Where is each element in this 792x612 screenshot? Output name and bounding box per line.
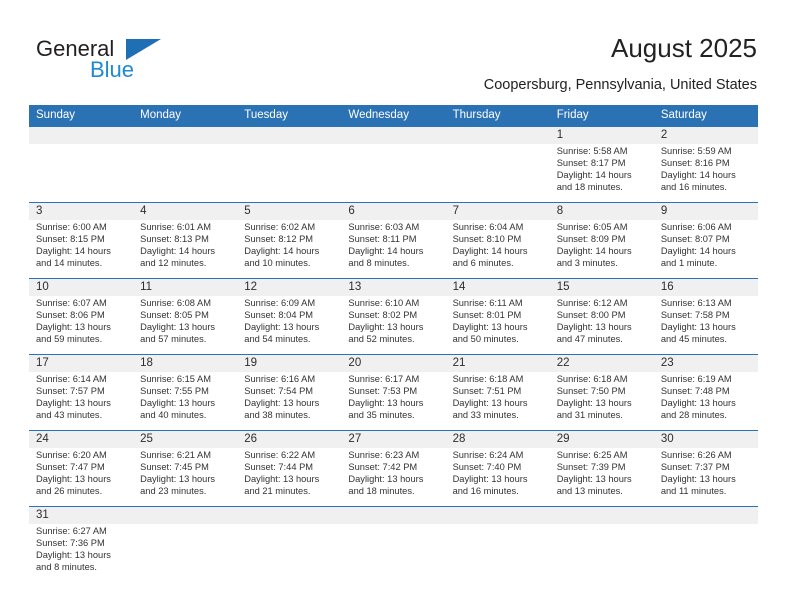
day-cell[interactable]: 31Sunrise: 6:27 AM Sunset: 7:36 PM Dayli… — [29, 507, 133, 583]
weekday-header-sunday: Sunday — [29, 105, 133, 126]
day-detail: Sunrise: 6:15 AM Sunset: 7:55 PM Dayligh… — [140, 372, 237, 421]
day-cell[interactable]: 16Sunrise: 6:13 AM Sunset: 7:58 PM Dayli… — [654, 279, 758, 354]
day-cell[interactable]: 10Sunrise: 6:07 AM Sunset: 8:06 PM Dayli… — [29, 279, 133, 354]
day-cell[interactable] — [133, 507, 237, 583]
day-detail: Sunrise: 6:23 AM Sunset: 7:42 PM Dayligh… — [348, 448, 445, 497]
day-cell[interactable]: 23Sunrise: 6:19 AM Sunset: 7:48 PM Dayli… — [654, 355, 758, 430]
day-detail: Sunrise: 6:26 AM Sunset: 7:37 PM Dayligh… — [661, 448, 758, 497]
day-detail: Sunrise: 6:13 AM Sunset: 7:58 PM Dayligh… — [661, 296, 758, 345]
day-number: 29 — [557, 431, 654, 448]
day-detail: Sunrise: 5:59 AM Sunset: 8:16 PM Dayligh… — [661, 144, 758, 193]
day-number: 10 — [36, 279, 133, 296]
day-cell[interactable]: 27Sunrise: 6:23 AM Sunset: 7:42 PM Dayli… — [341, 431, 445, 506]
day-cell[interactable]: 17Sunrise: 6:14 AM Sunset: 7:57 PM Dayli… — [29, 355, 133, 430]
day-number: 16 — [661, 279, 758, 296]
calendar-page: General Blue August 2025 Coopersburg, Pe… — [0, 0, 792, 612]
day-number: 1 — [557, 127, 654, 144]
day-cell[interactable]: 2Sunrise: 5:59 AM Sunset: 8:16 PM Daylig… — [654, 127, 758, 202]
calendar-week-row: 31Sunrise: 6:27 AM Sunset: 7:36 PM Dayli… — [29, 506, 758, 583]
day-number: 21 — [453, 355, 550, 372]
day-number: 17 — [36, 355, 133, 372]
day-cell[interactable]: 18Sunrise: 6:15 AM Sunset: 7:55 PM Dayli… — [133, 355, 237, 430]
day-cell[interactable]: 4Sunrise: 6:01 AM Sunset: 8:13 PM Daylig… — [133, 203, 237, 278]
day-detail: Sunrise: 6:19 AM Sunset: 7:48 PM Dayligh… — [661, 372, 758, 421]
day-cell[interactable] — [550, 507, 654, 583]
day-cell[interactable]: 9Sunrise: 6:06 AM Sunset: 8:07 PM Daylig… — [654, 203, 758, 278]
day-cell[interactable] — [237, 507, 341, 583]
day-detail: Sunrise: 6:27 AM Sunset: 7:36 PM Dayligh… — [36, 524, 133, 573]
day-detail: Sunrise: 6:14 AM Sunset: 7:57 PM Dayligh… — [36, 372, 133, 421]
logo-text-blue: Blue — [90, 57, 134, 83]
day-cell[interactable] — [133, 127, 237, 202]
weekday-header-saturday: Saturday — [654, 105, 758, 126]
day-detail: Sunrise: 6:04 AM Sunset: 8:10 PM Dayligh… — [453, 220, 550, 269]
day-detail: Sunrise: 6:05 AM Sunset: 8:09 PM Dayligh… — [557, 220, 654, 269]
day-detail: Sunrise: 6:16 AM Sunset: 7:54 PM Dayligh… — [244, 372, 341, 421]
day-cell[interactable]: 30Sunrise: 6:26 AM Sunset: 7:37 PM Dayli… — [654, 431, 758, 506]
day-detail: Sunrise: 6:11 AM Sunset: 8:01 PM Dayligh… — [453, 296, 550, 345]
day-number: 12 — [244, 279, 341, 296]
weekday-header-thursday: Thursday — [446, 105, 550, 126]
day-detail: Sunrise: 6:22 AM Sunset: 7:44 PM Dayligh… — [244, 448, 341, 497]
day-number: 25 — [140, 431, 237, 448]
day-detail: Sunrise: 6:25 AM Sunset: 7:39 PM Dayligh… — [557, 448, 654, 497]
day-detail: Sunrise: 6:00 AM Sunset: 8:15 PM Dayligh… — [36, 220, 133, 269]
day-cell[interactable]: 8Sunrise: 6:05 AM Sunset: 8:09 PM Daylig… — [550, 203, 654, 278]
day-cell[interactable]: 3Sunrise: 6:00 AM Sunset: 8:15 PM Daylig… — [29, 203, 133, 278]
day-cell[interactable] — [654, 507, 758, 583]
day-cell[interactable]: 1Sunrise: 5:58 AM Sunset: 8:17 PM Daylig… — [550, 127, 654, 202]
day-cell[interactable] — [446, 507, 550, 583]
day-detail: Sunrise: 6:07 AM Sunset: 8:06 PM Dayligh… — [36, 296, 133, 345]
day-number: 15 — [557, 279, 654, 296]
day-number: 24 — [36, 431, 133, 448]
day-detail: Sunrise: 6:18 AM Sunset: 7:50 PM Dayligh… — [557, 372, 654, 421]
day-number: 18 — [140, 355, 237, 372]
day-number: 27 — [348, 431, 445, 448]
day-number: 26 — [244, 431, 341, 448]
weekday-header-wednesday: Wednesday — [341, 105, 445, 126]
page-subtitle: Coopersburg, Pennsylvania, United States — [484, 77, 757, 93]
day-cell[interactable] — [237, 127, 341, 202]
day-cell[interactable]: 5Sunrise: 6:02 AM Sunset: 8:12 PM Daylig… — [237, 203, 341, 278]
day-number: 7 — [453, 203, 550, 220]
calendar-week-row: 3Sunrise: 6:00 AM Sunset: 8:15 PM Daylig… — [29, 202, 758, 278]
day-detail: Sunrise: 6:03 AM Sunset: 8:11 PM Dayligh… — [348, 220, 445, 269]
calendar-week-row: 1Sunrise: 5:58 AM Sunset: 8:17 PM Daylig… — [29, 126, 758, 202]
day-detail: Sunrise: 6:01 AM Sunset: 8:13 PM Dayligh… — [140, 220, 237, 269]
day-detail: Sunrise: 6:02 AM Sunset: 8:12 PM Dayligh… — [244, 220, 341, 269]
day-detail: Sunrise: 6:21 AM Sunset: 7:45 PM Dayligh… — [140, 448, 237, 497]
day-number: 14 — [453, 279, 550, 296]
day-detail: Sunrise: 6:06 AM Sunset: 8:07 PM Dayligh… — [661, 220, 758, 269]
day-number: 23 — [661, 355, 758, 372]
calendar-week-row: 24Sunrise: 6:20 AM Sunset: 7:47 PM Dayli… — [29, 430, 758, 506]
weekday-header-row: Sunday Monday Tuesday Wednesday Thursday… — [29, 105, 758, 126]
day-cell[interactable]: 12Sunrise: 6:09 AM Sunset: 8:04 PM Dayli… — [237, 279, 341, 354]
day-number: 11 — [140, 279, 237, 296]
day-number: 3 — [36, 203, 133, 220]
day-cell[interactable]: 26Sunrise: 6:22 AM Sunset: 7:44 PM Dayli… — [237, 431, 341, 506]
weekday-header-tuesday: Tuesday — [237, 105, 341, 126]
day-cell[interactable]: 19Sunrise: 6:16 AM Sunset: 7:54 PM Dayli… — [237, 355, 341, 430]
day-cell[interactable] — [341, 127, 445, 202]
day-detail: Sunrise: 6:09 AM Sunset: 8:04 PM Dayligh… — [244, 296, 341, 345]
calendar-week-row: 17Sunrise: 6:14 AM Sunset: 7:57 PM Dayli… — [29, 354, 758, 430]
day-detail: Sunrise: 6:18 AM Sunset: 7:51 PM Dayligh… — [453, 372, 550, 421]
page-header: General Blue August 2025 Coopersburg, Pe… — [0, 0, 792, 100]
day-cell[interactable]: 28Sunrise: 6:24 AM Sunset: 7:40 PM Dayli… — [446, 431, 550, 506]
day-cell[interactable]: 25Sunrise: 6:21 AM Sunset: 7:45 PM Dayli… — [133, 431, 237, 506]
day-cell[interactable]: 24Sunrise: 6:20 AM Sunset: 7:47 PM Dayli… — [29, 431, 133, 506]
weekday-header-friday: Friday — [550, 105, 654, 126]
day-number: 5 — [244, 203, 341, 220]
calendar-week-row: 10Sunrise: 6:07 AM Sunset: 8:06 PM Dayli… — [29, 278, 758, 354]
day-detail: Sunrise: 6:12 AM Sunset: 8:00 PM Dayligh… — [557, 296, 654, 345]
weekday-header-monday: Monday — [133, 105, 237, 126]
day-detail: Sunrise: 6:20 AM Sunset: 7:47 PM Dayligh… — [36, 448, 133, 497]
day-cell[interactable]: 15Sunrise: 6:12 AM Sunset: 8:00 PM Dayli… — [550, 279, 654, 354]
day-number: 22 — [557, 355, 654, 372]
day-cell[interactable]: 11Sunrise: 6:08 AM Sunset: 8:05 PM Dayli… — [133, 279, 237, 354]
day-detail: Sunrise: 6:10 AM Sunset: 8:02 PM Dayligh… — [348, 296, 445, 345]
day-cell[interactable]: 14Sunrise: 6:11 AM Sunset: 8:01 PM Dayli… — [446, 279, 550, 354]
day-number: 9 — [661, 203, 758, 220]
day-number: 4 — [140, 203, 237, 220]
day-cell[interactable] — [29, 127, 133, 202]
day-cell[interactable]: 22Sunrise: 6:18 AM Sunset: 7:50 PM Dayli… — [550, 355, 654, 430]
day-cell[interactable] — [446, 127, 550, 202]
day-cell[interactable] — [341, 507, 445, 583]
day-cell[interactable]: 21Sunrise: 6:18 AM Sunset: 7:51 PM Dayli… — [446, 355, 550, 430]
day-cell[interactable]: 29Sunrise: 6:25 AM Sunset: 7:39 PM Dayli… — [550, 431, 654, 506]
day-number: 6 — [348, 203, 445, 220]
day-number: 30 — [661, 431, 758, 448]
day-detail: Sunrise: 5:58 AM Sunset: 8:17 PM Dayligh… — [557, 144, 654, 193]
day-cell[interactable]: 7Sunrise: 6:04 AM Sunset: 8:10 PM Daylig… — [446, 203, 550, 278]
day-number: 8 — [557, 203, 654, 220]
day-number: 19 — [244, 355, 341, 372]
day-number: 2 — [661, 127, 758, 144]
day-cell[interactable]: 6Sunrise: 6:03 AM Sunset: 8:11 PM Daylig… — [341, 203, 445, 278]
day-number: 28 — [453, 431, 550, 448]
day-number: 20 — [348, 355, 445, 372]
day-detail: Sunrise: 6:17 AM Sunset: 7:53 PM Dayligh… — [348, 372, 445, 421]
day-detail: Sunrise: 6:24 AM Sunset: 7:40 PM Dayligh… — [453, 448, 550, 497]
calendar-table: Sunday Monday Tuesday Wednesday Thursday… — [29, 105, 758, 583]
day-cell[interactable]: 13Sunrise: 6:10 AM Sunset: 8:02 PM Dayli… — [341, 279, 445, 354]
day-detail: Sunrise: 6:08 AM Sunset: 8:05 PM Dayligh… — [140, 296, 237, 345]
general-blue-logo[interactable]: General Blue — [36, 36, 256, 92]
day-number: 13 — [348, 279, 445, 296]
day-number: 31 — [36, 507, 133, 524]
day-cell[interactable]: 20Sunrise: 6:17 AM Sunset: 7:53 PM Dayli… — [341, 355, 445, 430]
page-title: August 2025 — [611, 33, 757, 64]
